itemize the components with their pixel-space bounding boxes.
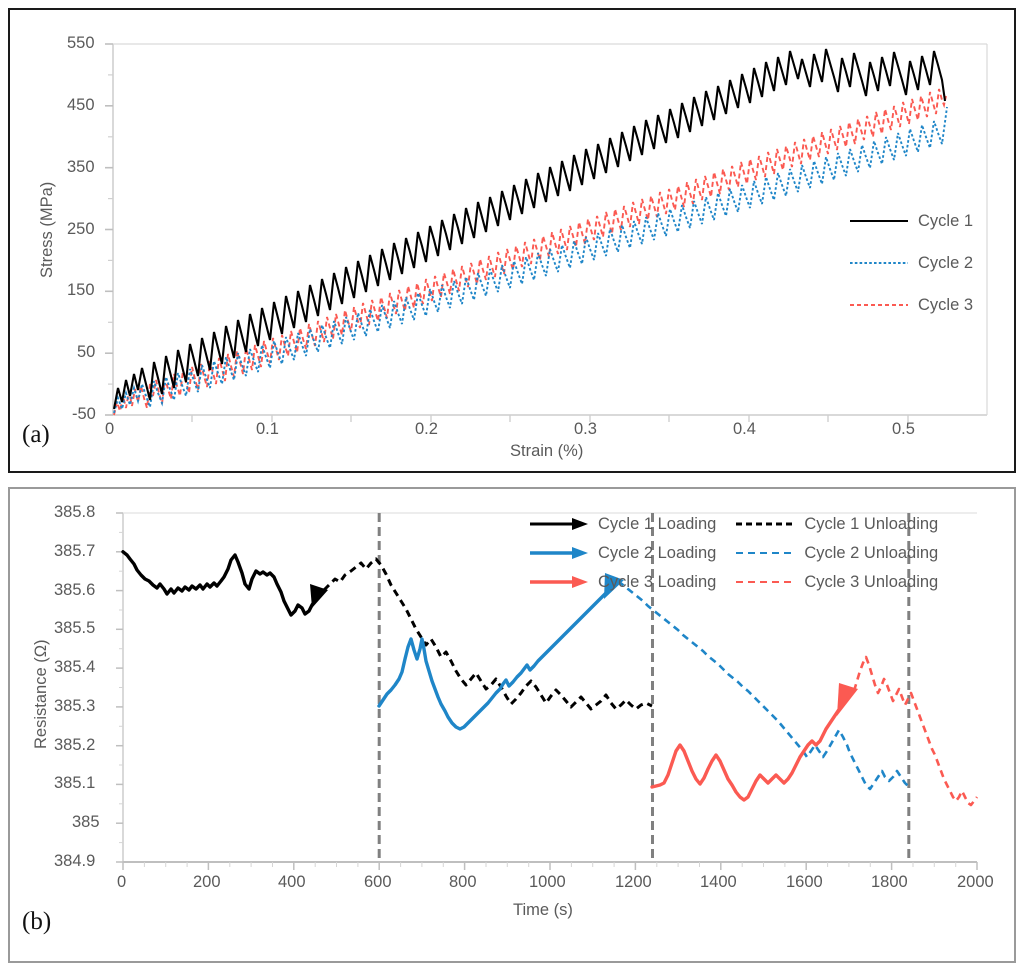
chart-a-series-cycle3 [114, 89, 946, 415]
legend-swatch-cycle-3-loading [528, 575, 590, 589]
legend-label-cycle-2: Cycle 2 [910, 254, 973, 273]
legend-label-cycle-1-loading: Cycle 1 Loading [590, 515, 716, 534]
chart-a-xtick-2: 0.2 [415, 420, 438, 439]
legend-item-cycle-3-unloading[interactable]: Cycle 3 Unloading [734, 571, 938, 593]
chart-b-ytick-9: 384.9 [54, 852, 95, 871]
chart-a-series-cycle2 [114, 107, 947, 413]
chart-a-ytick-1: 450 [67, 96, 95, 115]
legend-label-cycle-3-loading: Cycle 3 Loading [590, 573, 716, 592]
chart-b-ytick-3: 385.5 [54, 619, 95, 638]
chart-b-xtick-5: 1000 [529, 873, 566, 892]
legend-label-cycle-3: Cycle 3 [910, 296, 973, 315]
chart-b-ytick-2: 385.6 [54, 581, 95, 600]
chart-b-ytick-4: 385.4 [54, 658, 95, 677]
chart-a-ytick-5: 50 [77, 343, 95, 362]
legend-item-cycle-2-loading[interactable]: Cycle 2 Loading [528, 542, 716, 564]
chart-a-ytick-4: 150 [67, 281, 95, 300]
chart-b-xtick-2: 400 [278, 873, 306, 892]
chart-b-legend: Cycle 1 Loading Cycle 2 Loading Cycle 3 … [528, 513, 938, 593]
legend-item-cycle-2-unloading[interactable]: Cycle 2 Unloading [734, 542, 938, 564]
chart-b-ytick-0: 385.8 [54, 503, 95, 522]
chart-b-xtick-1: 200 [193, 873, 221, 892]
chart-b-xtick-3: 600 [364, 873, 392, 892]
legend-swatch-cycle-1 [848, 214, 910, 228]
legend-swatch-cycle-2 [848, 256, 910, 270]
legend-label-cycle-1: Cycle 1 [910, 212, 973, 231]
legend-label-cycle-2-loading: Cycle 2 Loading [590, 544, 716, 563]
chart-b-x-axis-title: Time (s) [513, 901, 573, 920]
legend-label-cycle-2-unloading: Cycle 2 Unloading [796, 544, 938, 563]
chart-a-x-axis-title: Strain (%) [510, 442, 583, 461]
chart-b-y-axis-title: Resistance (Ω) [32, 639, 51, 749]
chart-b-series-cycle1-loading [123, 552, 328, 615]
figure-container: 550 450 350 250 150 50 -50 0 0.1 0.2 0.3… [0, 0, 1024, 971]
chart-b-ytick-1: 385.7 [54, 542, 95, 561]
legend-swatch-cycle-1-loading [528, 517, 590, 531]
chart-a-xtick-1: 0.1 [256, 420, 279, 439]
chart-a-ytick-3: 250 [67, 220, 95, 239]
chart-b-ytick-5: 385.3 [54, 697, 95, 716]
chart-b-series-cycle3-unloading [854, 657, 977, 805]
chart-b-xtick-10: 2000 [957, 873, 994, 892]
legend-item-cycle-3-loading[interactable]: Cycle 3 Loading [528, 571, 716, 593]
chart-b-xtick-0: 0 [117, 873, 126, 892]
legend-swatch-cycle-2-loading [528, 546, 590, 560]
chart-a-xtick-5: 0.5 [892, 420, 915, 439]
chart-a-xtick-4: 0.4 [733, 420, 756, 439]
chart-b-xtick-7: 1400 [700, 873, 737, 892]
chart-a-legend: Cycle 1 Cycle 2 Cycle 3 [848, 200, 973, 326]
legend-swatch-cycle-1-unloading [734, 517, 796, 531]
legend-label-cycle-3-unloading: Cycle 3 Unloading [796, 573, 938, 592]
legend-item-cycle-2[interactable]: Cycle 2 [848, 242, 973, 284]
chart-a-ytick-2: 350 [67, 158, 95, 177]
legend-item-cycle-3[interactable]: Cycle 3 [848, 284, 973, 326]
chart-b-xtick-9: 1800 [871, 873, 908, 892]
legend-item-cycle-1[interactable]: Cycle 1 [848, 200, 973, 242]
chart-b-series-cycle2-unloading [618, 581, 909, 789]
chart-a-xtick-3: 0.3 [574, 420, 597, 439]
legend-swatch-cycle-2-unloading [734, 546, 796, 560]
chart-b-ytick-8: 385 [72, 813, 100, 832]
chart-b-xtick-6: 1200 [615, 873, 652, 892]
legend-label-cycle-1-unloading: Cycle 1 Unloading [796, 515, 938, 534]
panel-b-label: (b) [22, 908, 51, 936]
chart-b-series-cycle3-loading [652, 683, 858, 800]
legend-item-cycle-1-loading[interactable]: Cycle 1 Loading [528, 513, 716, 535]
chart-b-ytick-7: 385.1 [54, 774, 95, 793]
chart-a-ytick-0: 550 [67, 34, 95, 53]
chart-b-ytick-6: 385.2 [54, 736, 95, 755]
legend-swatch-cycle-3-unloading [734, 575, 796, 589]
chart-b-xtick-8: 1600 [786, 873, 823, 892]
panel-b-resistance-time: 385.8 385.7 385.6 385.5 385.4 385.3 385.… [8, 487, 1016, 963]
panel-a-label: (a) [22, 421, 50, 449]
legend-item-cycle-1-unloading[interactable]: Cycle 1 Unloading [734, 513, 938, 535]
legend-swatch-cycle-3 [848, 298, 910, 312]
chart-a-ytick-6: -50 [72, 405, 96, 424]
chart-b-xtick-4: 800 [449, 873, 477, 892]
panel-a-stress-strain: 550 450 350 250 150 50 -50 0 0.1 0.2 0.3… [8, 8, 1016, 473]
chart-a-xtick-0: 0 [105, 420, 114, 439]
chart-a-y-axis-title: Stress (MPa) [38, 182, 57, 278]
